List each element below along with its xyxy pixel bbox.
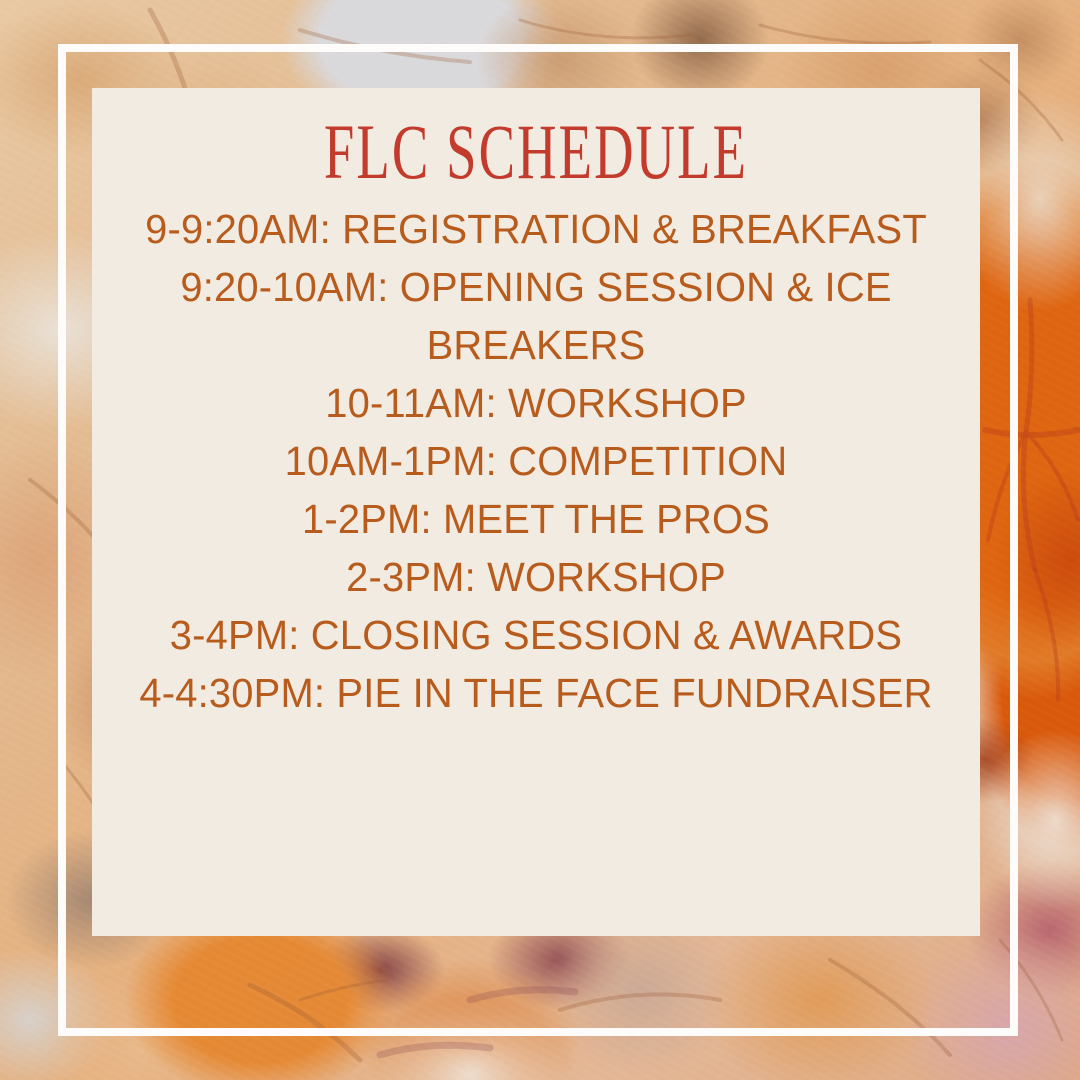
schedule-poster: FLC SCHEDULE 9-9:20AM: REGISTRATION & BR… xyxy=(0,0,1080,1080)
list-item: 2-3PM: WORKSHOP xyxy=(346,554,726,600)
schedule-list: 9-9:20AM: REGISTRATION & BREAKFAST 9:20-… xyxy=(138,200,934,722)
list-item: 9-9:20AM: REGISTRATION & BREAKFAST xyxy=(145,206,927,252)
list-item: 4-4:30PM: PIE IN THE FACE FUNDRAISER xyxy=(139,670,932,716)
list-item: 1-2PM: MEET THE PROS xyxy=(302,496,770,542)
list-item: 10-11AM: WORKSHOP xyxy=(325,380,747,426)
list-item: 10AM-1PM: COMPETITION xyxy=(285,438,788,484)
page-title: FLC SCHEDULE xyxy=(253,114,819,190)
list-item: 9:20-10AM: OPENING SESSION & ICE BREAKER… xyxy=(180,264,891,368)
list-item: 3-4PM: CLOSING SESSION & AWARDS xyxy=(170,612,902,658)
content-panel: FLC SCHEDULE 9-9:20AM: REGISTRATION & BR… xyxy=(92,88,980,936)
